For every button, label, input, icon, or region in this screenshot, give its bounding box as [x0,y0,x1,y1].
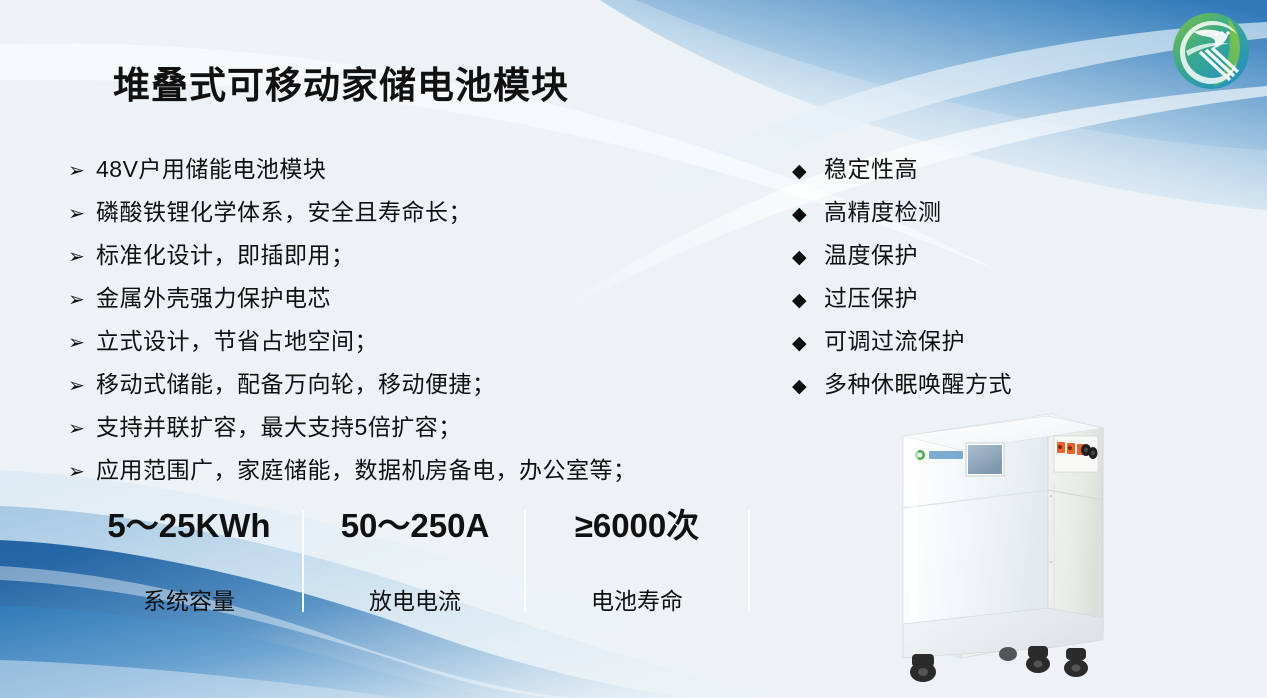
list-item: ◆ 可调过流保护 [792,322,1092,365]
diamond-bullet-icon: ◆ [792,334,824,353]
arrow-bullet-icon: ➢ [68,462,96,482]
feature-label: 应用范围广，家庭储能，数据机房备电，办公室等； [96,451,637,485]
arrow-bullet-icon: ➢ [68,290,96,310]
protection-list: ◆ 稳定性高 ◆ 高精度检测 ◆ 温度保护 ◆ 过压保护 ◆ 可调过流保护 ◆ … [792,150,1092,408]
protection-label: 多种休眠唤醒方式 [824,365,1012,399]
protection-label: 稳定性高 [824,150,918,184]
list-item: ➢ 48V户用储能电池模块 [68,150,708,193]
arrow-bullet-icon: ➢ [68,204,96,224]
feature-label: 标准化设计，即插即用； [96,236,355,270]
diamond-bullet-icon: ◆ [792,377,824,396]
list-item: ➢ 移动式储能，配备万向轮，移动便捷； [68,365,708,408]
stat-card: 50～250A 放电电流 [304,508,526,616]
list-item: ➢ 标准化设计，即插即用； [68,236,708,279]
list-item: ◆ 温度保护 [792,236,1092,279]
feature-label: 立式设计，节省占地空间； [96,322,378,356]
stat-label: 放电电流 [304,582,526,616]
list-item: ◆ 稳定性高 [792,150,1092,193]
protection-label: 高精度检测 [824,193,942,227]
slide-canvas: 堆叠式可移动家储电池模块 ➢ 48V户用储能电池模块 ➢ 磷酸铁锂化学体系，安全… [0,0,1267,698]
protection-label: 可调过流保护 [824,322,965,356]
stat-value: ≥6000次 [526,508,748,544]
list-item: ➢ 磷酸铁锂化学体系，安全且寿命长； [68,193,708,236]
list-item: ◆ 过压保护 [792,279,1092,322]
stat-divider [748,510,750,612]
list-item: ➢ 支持并联扩容，最大支持5倍扩容； [68,408,708,451]
protection-label: 温度保护 [824,236,918,270]
diamond-bullet-icon: ◆ [792,248,824,267]
list-item: ➢ 应用范围广，家庭储能，数据机房备电，办公室等； [68,451,708,494]
diamond-bullet-icon: ◆ [792,162,824,181]
spec-stats: 5～25KWh 系统容量 50～250A 放电电流 ≥6000次 电池寿命 [78,508,758,618]
list-item: ➢ 立式设计，节省占地空间； [68,322,708,365]
arrow-bullet-icon: ➢ [68,419,96,439]
feature-list: ➢ 48V户用储能电池模块 ➢ 磷酸铁锂化学体系，安全且寿命长； ➢ 标准化设计… [68,150,708,494]
feature-label: 支持并联扩容，最大支持5倍扩容； [96,408,462,442]
product-image [888,396,1118,696]
diamond-bullet-icon: ◆ [792,205,824,224]
feature-label: 移动式储能，配备万向轮，移动便捷； [96,365,496,399]
arrow-bullet-icon: ➢ [68,161,96,181]
company-logo-icon [1168,8,1254,94]
stat-card: 5～25KWh 系统容量 [78,508,300,616]
arrow-bullet-icon: ➢ [68,333,96,353]
page-title: 堆叠式可移动家储电池模块 [113,55,569,109]
arrow-bullet-icon: ➢ [68,247,96,267]
stat-card: ≥6000次 电池寿命 [526,508,748,616]
feature-label: 磷酸铁锂化学体系，安全且寿命长； [96,193,472,227]
list-item: ➢ 金属外壳强力保护电芯 [68,279,708,322]
stat-label: 电池寿命 [526,582,748,616]
stat-value: 50～250A [304,508,526,544]
diamond-bullet-icon: ◆ [792,291,824,310]
arrow-bullet-icon: ➢ [68,376,96,396]
list-item: ◆ 高精度检测 [792,193,1092,236]
protection-label: 过压保护 [824,279,918,313]
feature-label: 金属外壳强力保护电芯 [96,279,331,313]
stat-label: 系统容量 [78,582,300,616]
feature-label: 48V户用储能电池模块 [96,150,326,184]
stat-value: 5～25KWh [78,508,300,544]
